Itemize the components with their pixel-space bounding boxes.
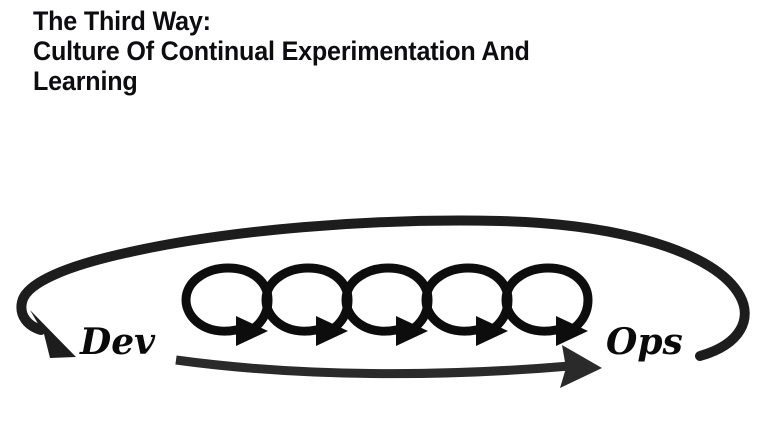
loop-stroke — [506, 268, 588, 334]
third-way-diagram: Dev Ops — [0, 0, 764, 428]
flow-arrow-stroke — [176, 360, 570, 374]
diagram-label-ops: Ops — [606, 324, 683, 360]
experimentation-loop — [426, 268, 508, 346]
flow-arrow-arrowhead — [560, 345, 602, 388]
loop-stroke — [426, 268, 508, 334]
diagram-label-dev: Dev — [80, 324, 155, 360]
slide-canvas: The Third Way: Culture Of Continual Expe… — [0, 0, 764, 428]
feedback-arc-arrowhead — [30, 310, 76, 358]
diagram-svg — [0, 0, 764, 428]
loop-stroke — [346, 268, 428, 334]
experimentation-loop — [186, 268, 268, 346]
experimentation-loop — [506, 268, 588, 346]
loop-stroke — [186, 268, 268, 334]
dev-to-ops-flow-arrow — [176, 345, 602, 388]
loop-stroke — [266, 268, 348, 334]
experimentation-loop — [346, 268, 428, 346]
experimentation-loop — [266, 268, 348, 346]
experimentation-loops — [186, 268, 588, 346]
